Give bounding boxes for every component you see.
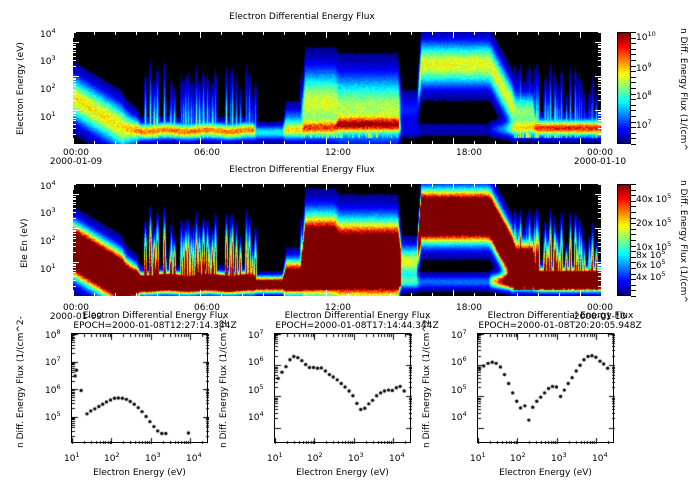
axis-tick <box>221 293 222 296</box>
axis-tick <box>598 128 601 129</box>
top-ylabel-text: Electron Energy (eV) <box>16 42 26 135</box>
ytick-exp: 7 <box>259 328 263 336</box>
ytick-mantissa: 10 <box>451 386 462 396</box>
colorbar-tick <box>631 229 636 230</box>
colorbar-tick <box>631 94 636 95</box>
ytick-exp: 1 <box>51 262 55 270</box>
colorbar-tick <box>631 60 636 61</box>
middle-panel-title: Electron Differential Energy Flux <box>0 165 604 175</box>
axis-tick <box>242 141 243 144</box>
middle-ytick-label: 101 <box>40 262 56 275</box>
spectrum-3-ylabel-text: n Diff. Energy Flux (1/(cm^2- <box>422 316 432 448</box>
spectrum-2-plot[interactable] <box>274 333 411 443</box>
axis-tick <box>73 42 79 43</box>
axis-tick <box>115 184 116 187</box>
ytick-exp: 6 <box>462 355 466 363</box>
axis-tick <box>598 118 601 119</box>
middle-colorbar-label: n Diff. Energy Flux (1/(cm^ <box>678 180 688 303</box>
axis-tick <box>73 52 76 53</box>
axis-tick <box>242 293 243 296</box>
axis-tick <box>73 230 76 231</box>
spectrum-2-xtick-label: 104 <box>389 451 405 464</box>
middle-ylabel-text: Ele En (eV) <box>20 218 30 268</box>
axis-tick <box>263 184 264 187</box>
axis-tick <box>598 264 601 265</box>
axis-tick <box>73 84 76 85</box>
colorbar-tick-label: 20x 105 <box>636 216 671 229</box>
cb-exp: 5 <box>667 240 671 248</box>
axis-tick <box>179 141 180 144</box>
axis-tick <box>348 141 349 144</box>
top-panel-title: Electron Differential Energy Flux <box>0 12 604 22</box>
axis-tick <box>73 32 74 38</box>
xtick-exp: 1 <box>278 451 282 459</box>
xtick-mantissa: 10 <box>145 454 156 464</box>
ytick-mantissa: 10 <box>40 85 51 95</box>
axis-tick <box>432 293 433 296</box>
axis-tick <box>595 262 601 263</box>
top-ytick-label: 103 <box>40 54 56 67</box>
spectrum-3-title: Electron Differential Energy Flux <box>453 311 668 321</box>
axis-tick <box>73 94 76 95</box>
axis-tick <box>453 290 454 296</box>
spectrum-3-epoch: EPOCH=2000-01-08T20:20:05.948Z <box>435 321 685 331</box>
axis-tick <box>598 79 601 80</box>
axis-tick <box>73 86 76 87</box>
axis-tick <box>598 280 601 281</box>
ytick-mantissa: 10 <box>40 265 51 275</box>
axis-tick <box>598 47 601 48</box>
axis-tick <box>598 90 601 91</box>
xtick-exp: 1 <box>481 451 485 459</box>
cb-exp: 5 <box>661 258 665 266</box>
ytick-exp: 4 <box>51 27 55 35</box>
axis-tick <box>115 32 116 35</box>
axis-tick <box>73 270 76 271</box>
colorbar-tick <box>631 127 636 128</box>
middle-colorbar-label-text: n Diff. Energy Flux (1/(cm^ <box>678 180 688 303</box>
axis-tick <box>221 32 222 35</box>
axis-tick <box>495 141 496 144</box>
axis-tick <box>73 66 76 67</box>
axis-tick <box>411 32 412 35</box>
spectrum-2-ytick-label: 106 <box>248 355 264 368</box>
ytick-mantissa: 10 <box>40 57 51 67</box>
xtick-exp: 1 <box>75 451 79 459</box>
cb-exp: 5 <box>667 216 671 224</box>
spectrum-1-plot[interactable] <box>71 333 208 443</box>
ytick-mantissa: 10 <box>451 331 462 341</box>
axis-tick <box>326 138 327 144</box>
colorbar-tick <box>631 49 636 50</box>
axis-tick <box>598 86 601 87</box>
axis-tick <box>538 141 539 144</box>
spectrum-2-ylabel-text: n Diff. Energy Flux (1/(cm^2- <box>219 316 229 448</box>
axis-tick <box>73 204 76 205</box>
colorbar-tick <box>631 279 636 280</box>
axis-tick <box>179 184 180 187</box>
axis-tick <box>73 56 76 57</box>
colorbar-tick <box>631 144 636 145</box>
ytick-exp: 5 <box>462 383 466 391</box>
spectrum-3-xtick-label: 104 <box>592 451 608 464</box>
colorbar-tick <box>631 234 636 235</box>
axis-tick <box>601 141 602 144</box>
ytick-exp: 2 <box>51 234 55 242</box>
colorbar-tick-label: 1010 <box>636 30 656 43</box>
colorbar-tick <box>631 240 636 241</box>
axis-tick <box>453 184 454 190</box>
ytick-exp: 4 <box>51 179 55 187</box>
colorbar-tick <box>631 285 636 286</box>
colorbar-tick <box>631 218 636 219</box>
axis-tick <box>326 184 327 190</box>
colorbar-tick <box>631 38 636 39</box>
ytick-exp: 4 <box>462 410 466 418</box>
axis-tick <box>580 138 581 144</box>
spectrum-3-ytick-label: 105 <box>451 383 467 396</box>
colorbar-tick <box>631 190 636 191</box>
axis-tick <box>598 265 601 266</box>
axis-tick <box>179 32 180 35</box>
axis-tick <box>598 272 601 273</box>
axis-tick <box>369 293 370 296</box>
colorbar-tick-label: 107 <box>636 118 652 131</box>
axis-tick <box>200 32 201 38</box>
spectrum-1-ytick-label: 106 <box>45 383 61 396</box>
colorbar-tick <box>631 116 636 117</box>
axis-tick <box>73 47 76 48</box>
axis-tick <box>73 246 76 247</box>
axis-tick <box>305 184 306 187</box>
axis-tick <box>94 293 95 296</box>
axis-tick <box>73 100 76 101</box>
axis-tick <box>595 76 601 77</box>
axis-tick <box>598 120 601 121</box>
axis-tick <box>263 32 264 35</box>
ytick-mantissa: 10 <box>45 358 56 368</box>
axis-tick <box>598 115 601 116</box>
ytick-exp: 5 <box>56 410 60 418</box>
cb-mantissa: 10 <box>636 121 647 131</box>
axis-tick <box>474 141 475 144</box>
axis-tick <box>242 32 243 35</box>
axis-tick <box>369 141 370 144</box>
axis-tick <box>538 293 539 296</box>
axis-tick <box>73 138 74 144</box>
axis-tick <box>73 236 76 237</box>
spectrum-2-ytick-label: 105 <box>248 383 264 396</box>
axis-tick <box>369 184 370 187</box>
axis-tick <box>453 138 454 144</box>
axis-tick <box>221 184 222 187</box>
spectrum-1-ylabel: n Diff. Energy Flux (1/(cm^2- <box>16 316 26 448</box>
axis-tick <box>73 112 76 113</box>
colorbar-tick <box>631 274 636 275</box>
axis-tick <box>595 144 601 145</box>
spectrum-2-ytick-label: 104 <box>248 410 264 423</box>
axis-tick <box>598 212 601 213</box>
axis-tick <box>115 293 116 296</box>
ytick-mantissa: 10 <box>248 358 259 368</box>
spectrum-2-ytick-label: 107 <box>248 328 264 341</box>
ytick-mantissa: 10 <box>451 413 462 423</box>
axis-tick <box>390 32 391 35</box>
colorbar-tick <box>631 133 636 134</box>
axis-tick <box>136 184 137 187</box>
colorbar-tick <box>631 184 636 185</box>
colorbar-tick <box>631 71 636 72</box>
axis-tick <box>598 231 601 232</box>
middle-spectrogram-plot[interactable] <box>73 184 601 296</box>
spectrum-3-ytick-label: 104 <box>451 410 467 423</box>
axis-tick <box>598 246 601 247</box>
axis-tick <box>326 290 327 296</box>
cb-exp: 9 <box>647 61 651 69</box>
axis-tick <box>157 141 158 144</box>
axis-tick <box>598 202 601 203</box>
colorbar-tick-label: 4x 105 <box>636 270 666 283</box>
spectrum-3-ytick-label: 107 <box>451 328 467 341</box>
ytick-mantissa: 10 <box>248 386 259 396</box>
axis-tick <box>73 198 76 199</box>
axis-tick <box>73 252 76 253</box>
axis-tick <box>495 32 496 35</box>
axis-tick <box>73 124 76 125</box>
axis-tick <box>595 194 601 195</box>
colorbar-tick-label: 109 <box>636 61 652 74</box>
axis-tick <box>284 32 285 35</box>
middle-ytick-label: 102 <box>40 234 56 247</box>
ytick-mantissa: 10 <box>248 331 259 341</box>
axis-tick <box>73 228 79 229</box>
xtick-exp: 4 <box>400 451 404 459</box>
axis-tick <box>284 141 285 144</box>
xtick-mantissa: 10 <box>389 454 400 464</box>
xtick-exp: 4 <box>603 451 607 459</box>
axis-tick <box>73 242 76 243</box>
spectrum-1-title: Electron Differential Energy Flux <box>48 311 263 321</box>
spectrum-3-ytick-label: 106 <box>451 355 467 368</box>
ytick-mantissa: 10 <box>248 413 259 423</box>
colorbar-tick <box>631 122 636 123</box>
colorbar-tick <box>631 32 636 33</box>
cb-mantissa: 40x 10 <box>636 195 667 205</box>
axis-tick <box>136 141 137 144</box>
xtick-exp: 3 <box>156 451 160 459</box>
axis-tick <box>474 32 475 35</box>
cb-mantissa: 20x 10 <box>636 219 667 229</box>
top-colorbar-label: n Diff. Energy Flux (1/(cm^ <box>678 28 688 151</box>
spectrum-1-ytick-label: 105 <box>45 410 61 423</box>
axis-tick <box>598 66 601 67</box>
axis-tick <box>369 32 370 35</box>
axis-tick <box>598 198 601 199</box>
xtick-exp: 4 <box>197 451 201 459</box>
spectrum-3-xtick-label: 102 <box>510 451 526 464</box>
axis-tick <box>73 202 76 203</box>
top-colorbar-label-text: n Diff. Energy Flux (1/(cm^ <box>678 28 688 151</box>
axis-tick <box>580 184 581 190</box>
colorbar-tick-label: 108 <box>636 89 652 102</box>
cb-exp: 5 <box>661 248 665 256</box>
axis-tick <box>305 141 306 144</box>
axis-tick <box>73 134 76 135</box>
xtick-mantissa: 10 <box>470 454 481 464</box>
ytick-exp: 3 <box>51 206 55 214</box>
axis-tick <box>73 118 76 119</box>
axis-tick <box>73 60 76 61</box>
top-ytick-label: 102 <box>40 82 56 95</box>
axis-tick <box>495 293 496 296</box>
ytick-exp: 1 <box>51 110 55 118</box>
axis-tick <box>73 113 76 114</box>
axis-tick <box>598 208 601 209</box>
axis-tick <box>73 184 74 190</box>
axis-tick <box>305 32 306 35</box>
axis-tick <box>73 290 74 296</box>
colorbar-tick <box>631 223 636 224</box>
axis-tick <box>326 32 327 38</box>
axis-tick <box>73 272 76 273</box>
axis-tick <box>538 32 539 35</box>
axis-tick <box>390 141 391 144</box>
colorbar-tick <box>631 246 636 247</box>
axis-tick <box>598 218 601 219</box>
colorbar-tick <box>631 195 636 196</box>
cb-exp: 7 <box>647 118 651 126</box>
axis-tick <box>73 120 76 121</box>
axis-tick <box>580 290 581 296</box>
axis-tick <box>559 32 560 35</box>
axis-tick <box>598 233 601 234</box>
spectrum-1-xtick-label: 101 <box>64 451 80 464</box>
top-panel-ylabel: Electron Energy (eV) <box>16 42 26 135</box>
axis-tick <box>595 110 601 111</box>
cb-mantissa: 4x 10 <box>636 273 661 283</box>
axis-tick <box>73 50 76 51</box>
axis-tick <box>73 267 76 268</box>
axis-tick <box>517 141 518 144</box>
colorbar-tick <box>631 43 636 44</box>
axis-tick <box>73 218 76 219</box>
axis-tick <box>348 184 349 187</box>
middle-ytick-label: 103 <box>40 206 56 219</box>
spectrum-3-xlabel: Electron Energy (eV) <box>477 468 614 478</box>
axis-tick <box>559 141 560 144</box>
cb-exp: 5 <box>661 270 665 278</box>
spectrum-2-title: Electron Differential Energy Flux <box>250 311 465 321</box>
xtick-exp: 3 <box>359 451 363 459</box>
middle-colorbar[interactable] <box>617 184 631 296</box>
colorbar-tick <box>631 110 636 111</box>
top-spectrogram-plot[interactable] <box>73 32 601 144</box>
cb-exp: 8 <box>647 89 651 97</box>
axis-tick <box>73 196 76 197</box>
colorbar-tick <box>631 105 636 106</box>
ytick-exp: 5 <box>259 383 263 391</box>
ytick-mantissa: 10 <box>451 358 462 368</box>
spectrum-2-ylabel: n Diff. Energy Flux (1/(cm^2- <box>219 316 229 448</box>
axis-tick <box>73 78 76 79</box>
axis-tick <box>595 228 601 229</box>
axis-tick <box>73 194 79 195</box>
axis-tick <box>559 184 560 187</box>
axis-tick <box>598 78 601 79</box>
axis-tick <box>73 265 76 266</box>
axis-tick <box>115 141 116 144</box>
axis-tick <box>559 293 560 296</box>
colorbar-tick <box>631 262 636 263</box>
spectrum-3-plot[interactable] <box>477 333 614 443</box>
ytick-exp: 8 <box>56 328 60 336</box>
axis-tick <box>221 141 222 144</box>
axis-tick <box>73 262 79 263</box>
axis-tick <box>601 32 602 35</box>
top-xtick-label: 12:00 <box>314 148 362 158</box>
top-ytick-label: 101 <box>40 110 56 123</box>
colorbar-tick <box>631 268 636 269</box>
axis-tick <box>73 90 76 91</box>
axis-tick <box>305 293 306 296</box>
axis-tick <box>242 184 243 187</box>
axis-tick <box>73 280 76 281</box>
xtick-exp: 2 <box>318 451 322 459</box>
ytick-exp: 2 <box>51 82 55 90</box>
axis-tick <box>73 76 79 77</box>
axis-tick <box>73 233 76 234</box>
ytick-exp: 4 <box>259 410 263 418</box>
axis-tick <box>200 184 201 190</box>
axis-tick <box>284 184 285 187</box>
middle-panel-ylabel: Ele En (eV) <box>20 218 30 268</box>
spectrum-1-ylabel-text: n Diff. Energy Flux (1/(cm^2- <box>16 316 26 448</box>
axis-tick <box>598 52 601 53</box>
cb-mantissa: 10 <box>636 64 647 74</box>
ytick-mantissa: 10 <box>45 386 56 396</box>
axis-tick <box>73 208 76 209</box>
axis-tick <box>595 42 601 43</box>
axis-tick <box>598 124 601 125</box>
ytick-mantissa: 10 <box>45 413 56 423</box>
axis-tick <box>598 242 601 243</box>
axis-tick <box>598 50 601 51</box>
top-xtick-label: 06:00 <box>183 148 231 158</box>
ytick-exp: 7 <box>462 328 466 336</box>
axis-tick <box>432 141 433 144</box>
axis-tick <box>73 231 76 232</box>
axis-tick <box>598 196 601 197</box>
axis-tick <box>73 144 79 145</box>
axis-tick <box>157 293 158 296</box>
cb-exp: 5 <box>667 192 671 200</box>
ytick-mantissa: 10 <box>40 30 51 40</box>
top-ytick-label: 104 <box>40 27 56 40</box>
colorbar-tick <box>631 296 636 297</box>
axis-tick <box>598 100 601 101</box>
axis-tick <box>348 293 349 296</box>
axis-tick <box>598 94 601 95</box>
axis-tick <box>136 32 137 35</box>
axis-tick <box>595 296 601 297</box>
axis-tick <box>136 293 137 296</box>
colorbar-tick <box>631 257 636 258</box>
axis-tick <box>263 293 264 296</box>
colorbar-tick <box>631 54 636 55</box>
spectrum-1-xtick-label: 102 <box>104 451 120 464</box>
top-colorbar[interactable] <box>617 32 631 144</box>
xtick-mantissa: 10 <box>551 454 562 464</box>
